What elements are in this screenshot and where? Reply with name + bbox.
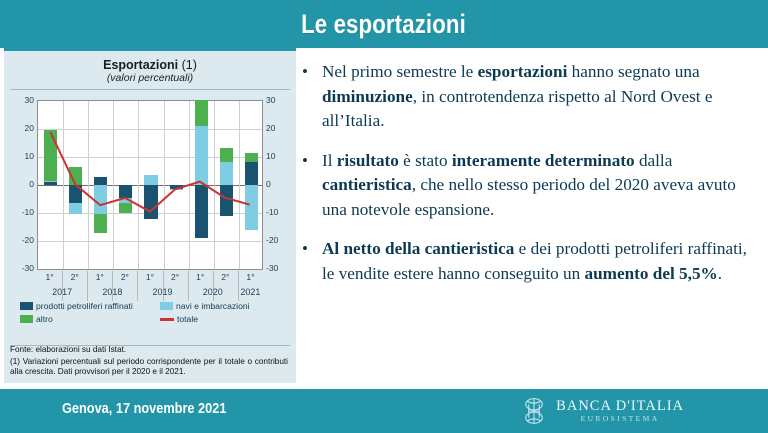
chart-title-text: Esportazioni [103,58,178,72]
bullet-item: •Il risultato è stato interamente determ… [302,149,758,223]
legend-item: altro [20,314,160,324]
legend-label: totale [177,314,198,324]
legend-item: totale [160,314,198,324]
legend-label: navi e imbarcazioni [176,301,250,311]
chart-header: Esportazioni (1) (valori percentuali) [4,51,296,85]
logo-text: BANCA D'ITALIA EUROSISTEMA [556,399,684,424]
bullet-text: Al netto della cantieristica e dei prodo… [322,237,758,286]
bullet-span: . [718,264,722,283]
chart-panel: Esportazioni (1) (valori percentuali) -3… [4,48,296,383]
x-axis-semester-label: 1° [137,272,162,282]
bullet-span: hanno segnato una [567,62,699,81]
y-axis-tick-label: 0 [266,180,288,188]
x-axis-semester-label: 1° [87,272,112,282]
x-axis-year-label: 2021 [238,287,263,297]
legend-item: prodotti petroliferi raffinati [20,301,160,311]
y-axis-tick-label: 10 [12,152,34,160]
y-axis-tick-label: 0 [12,180,34,188]
bullet-list: •Nel primo semestre le esportazioni hann… [302,60,758,301]
bullet-text: Il risultato è stato interamente determi… [322,149,758,223]
bullet-marker-icon: • [302,149,322,223]
chart-divider [10,89,290,90]
legend-swatch-icon [160,318,174,321]
x-axis-year-label: 2017 [37,287,87,297]
y-axis-tick-label: 20 [12,124,34,132]
slide-header: Le esportazioni [0,0,768,48]
total-line-series [38,101,262,269]
y-axis-tick-label: -20 [266,236,288,244]
bullet-item: •Nel primo semestre le esportazioni hann… [302,60,758,134]
x-axis-semester-label: 1° [188,272,213,282]
chart-plot-area [37,100,263,270]
y-axis-tick-label: -10 [12,208,34,216]
bullet-span: Il [322,151,337,170]
footnote-source: Fonte: elaborazioni su dati Istat. [10,345,288,356]
chart-title-note: (1) [182,58,197,72]
slide-body: Esportazioni (1) (valori percentuali) -3… [0,48,768,389]
bullet-emphasis: esportazioni [478,62,568,81]
x-axis-semester-label: 1° [238,272,263,282]
bullet-marker-icon: • [302,237,322,286]
footnote-note: (1) Variazioni percentuali sul periodo c… [10,357,288,378]
x-axis-semester-label: 2° [112,272,137,282]
x-axis-year-label: 2019 [137,287,187,297]
logo-subtitle: EUROSISTEMA [556,414,684,424]
bullet-emphasis: Al netto della cantieristica [322,239,514,258]
footer-date: Genova, 17 novembre 2021 [62,400,226,417]
x-axis-year-label: 2018 [87,287,137,297]
banca-ditalia-logo: BANCA D'ITALIA EUROSISTEMA [519,396,684,426]
x-axis-semester-label: 1° [37,272,62,282]
y-axis-tick-label: 30 [266,96,288,104]
legend-swatch-icon [20,315,33,323]
y-axis-tick-label: -30 [266,264,288,272]
y-axis-tick-label: -10 [266,208,288,216]
bullet-marker-icon: • [302,60,322,134]
legend-label: altro [36,314,53,324]
bullet-emphasis: risultato [337,151,399,170]
bullet-span: dalla [635,151,673,170]
chart-legend: prodotti petroliferi raffinatinavi e imb… [4,301,296,341]
bullet-emphasis: cantieristica [322,175,412,194]
bullet-text: Nel primo semestre le esportazioni hanno… [322,60,758,134]
legend-swatch-icon [160,302,173,310]
legend-item: navi e imbarcazioni [160,301,250,311]
y-axis-tick-label: 30 [12,96,34,104]
bullet-emphasis: aumento del 5,5% [585,264,718,283]
bullet-span: è stato [399,151,452,170]
legend-label: prodotti petroliferi raffinati [36,301,133,311]
banca-ditalia-emblem-icon [519,396,549,426]
legend-row: prodotti petroliferi raffinatinavi e imb… [20,301,280,311]
y-axis-tick-label: 20 [266,124,288,132]
legend-swatch-icon [20,302,33,310]
chart-footnotes: Fonte: elaborazioni su dati Istat. (1) V… [4,343,296,379]
bullet-span: Nel primo semestre le [322,62,478,81]
chart-plot-wrapper: -30-20-100102030 -30-20-100102030 1°2°1°… [8,96,292,284]
y-axis-tick-label: -20 [12,236,34,244]
logo-name: BANCA D'ITALIA [556,399,684,414]
y-axis-tick-label: -30 [12,264,34,272]
x-axis-semester-label: 2° [213,272,238,282]
x-axis-semester-label: 2° [163,272,188,282]
legend-row: altrototale [20,314,280,324]
slide-footer: Genova, 17 novembre 2021 BANCA D'ITALIA … [0,389,768,433]
page-title: Le esportazioni [302,9,467,40]
bullet-item: •Al netto della cantieristica e dei prod… [302,237,758,286]
y-axis-tick-label: 10 [266,152,288,160]
chart-subtitle: (valori percentuali) [4,72,296,85]
x-axis-year-label: 2020 [188,287,238,297]
chart-title: Esportazioni (1) [4,58,296,72]
bullet-emphasis: diminuzione [322,87,413,106]
x-axis-semester-label: 2° [62,272,87,282]
bullet-emphasis: interamente determinato [452,151,635,170]
